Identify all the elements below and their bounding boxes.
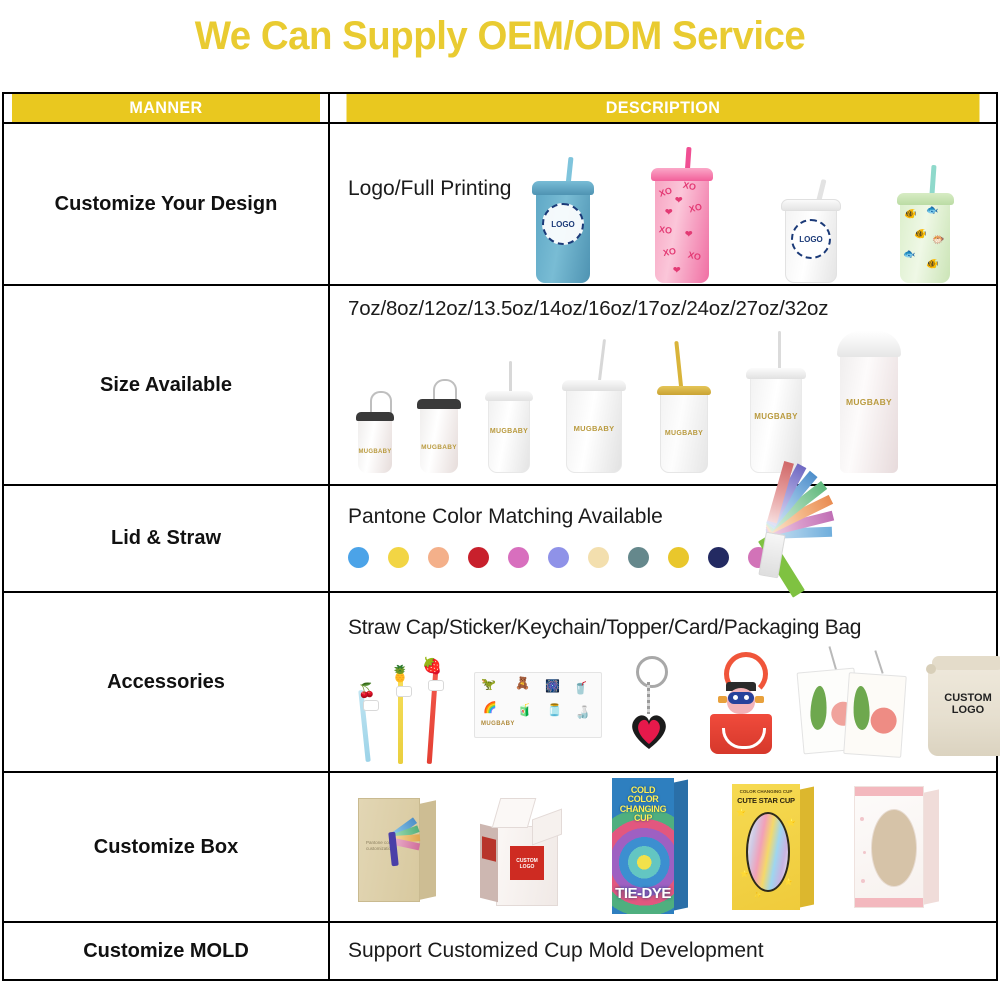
frosted-logo-cup: LOGO: [785, 183, 837, 283]
table-row: Accessories Straw Cap/Sticker/Keychain/T…: [3, 592, 997, 772]
cute-star-cup-box: COLOR CHANGING CUP CUTE STAR CUP ⭐ ⭐ ⭐ ⭐…: [732, 784, 818, 910]
pantone-matching-text: Pantone Color Matching Available: [330, 487, 996, 529]
description-customize-design: Logo/Full Printing LOGO XO: [329, 123, 997, 285]
description-customize-box: Pantone colorcustomization: [329, 772, 997, 922]
page-title: We Can Supply OEM/ODM Service: [20, 14, 980, 59]
description-customize-mold: Support Customized Cup Mold Development: [329, 922, 997, 980]
cup-topper-icon: [702, 652, 778, 760]
table-row: Customize Your Design Logo/Full Printing…: [3, 123, 997, 285]
cute-star-label: CUTE STAR CUP: [735, 796, 797, 805]
manner-lid-straw: Lid & Straw: [3, 485, 329, 592]
color-swatch: [468, 547, 489, 568]
oem-odm-service-page: We Can Supply OEM/ODM Service MANNER DES…: [0, 0, 1000, 1000]
blue-logo-cup: LOGO: [536, 163, 590, 283]
table-row: Size Available 7oz/8oz/12oz/13.5oz/14oz/…: [3, 285, 997, 485]
cup-32oz: MUGBABY: [840, 325, 898, 473]
color-swatch: [388, 547, 409, 568]
logo-full-printing-text: Logo/Full Printing: [330, 177, 511, 201]
color-swatch: [588, 547, 609, 568]
manner-customize-design: Customize Your Design: [3, 123, 329, 285]
color-swatch: [628, 547, 649, 568]
accessories-list-text: Straw Cap/Sticker/Keychain/Topper/Card/P…: [330, 594, 996, 640]
table-row: Customize Box Pantone colorcustomization: [3, 772, 997, 922]
cup-16oz: MUGBABY: [566, 343, 622, 473]
brand-label: MUGBABY: [358, 449, 391, 455]
logo-placeholder: LOGO: [542, 203, 584, 245]
dome-lid-icon: [837, 331, 901, 357]
custom-logo-label: CUSTOM LOGO: [510, 859, 544, 870]
hang-cards-icon: [796, 646, 906, 760]
color-swatch: [668, 547, 689, 568]
cup-12oz: MUGBABY: [488, 361, 530, 473]
service-table: MANNER DESCRIPTION Customize Your Design…: [2, 92, 998, 981]
brand-label: MUGBABY: [490, 428, 528, 435]
logo-placeholder: LOGO: [791, 219, 831, 259]
color-swatch: [348, 547, 369, 568]
pink-window-box: [854, 786, 944, 908]
color-swatch: [708, 547, 729, 568]
custom-logo-label: CUSTOM LOGO: [928, 692, 1000, 716]
tie-dye-box: COLD COLOR CHANGING CUP TIE-DYE: [612, 778, 690, 914]
straw-caps-icon: 🍒 🍍 🍓: [352, 656, 462, 764]
cute-star-sub-label: COLOR CHANGING CUP: [735, 789, 797, 794]
sticker-sheet-icon: 🦖 🧸 🎆 🥤 🌈 🧃 🫙 🍶 MUGBABY: [474, 672, 602, 738]
xo-lips-pattern: XO XO ❤ XO XO ❤ XO XO ❤ ❤: [655, 177, 709, 283]
color-swatch-list: [348, 547, 769, 568]
white-custom-logo-box: CUSTOM LOGO: [480, 786, 586, 906]
size-list-text: 7oz/8oz/12oz/13.5oz/14oz/16oz/17oz/24oz/…: [330, 287, 996, 321]
pantone-fan-deck-icon: [748, 495, 878, 587]
pink-xo-cup: XO XO ❤ XO XO ❤ XO XO ❤ ❤: [655, 151, 709, 283]
description-accessories: Straw Cap/Sticker/Keychain/Topper/Card/P…: [329, 592, 997, 772]
color-swatch: [548, 547, 569, 568]
heart-keychain-icon: [622, 656, 678, 758]
description-lid-straw: Pantone Color Matching Available: [329, 485, 997, 592]
canvas-bag-icon: CUSTOM LOGO: [922, 646, 1000, 758]
table-header-row: MANNER DESCRIPTION: [3, 93, 997, 123]
color-swatch: [428, 547, 449, 568]
description-size-available: 7oz/8oz/12oz/13.5oz/14oz/16oz/17oz/24oz/…: [329, 285, 997, 485]
cup-24oz: MUGBABY: [750, 331, 802, 473]
cup-17oz: MUGBABY: [660, 341, 708, 473]
header-manner: MANNER: [11, 93, 321, 123]
brand-label: MUGBABY: [421, 444, 457, 451]
brand-label: MUGBABY: [665, 430, 703, 437]
table-row: Lid & Straw Pantone Color Matching Avail…: [3, 485, 997, 592]
brand-label: MUGBABY: [754, 412, 797, 421]
tie-dye-heading: COLD COLOR CHANGING CUP: [615, 786, 671, 824]
brand-label: MUGBABY: [846, 397, 892, 407]
brand-label: MUGBABY: [574, 424, 615, 433]
manner-size-available: Size Available: [3, 285, 329, 485]
table-row: Customize MOLD Support Customized Cup Mo…: [3, 922, 997, 980]
kraft-pantone-box: Pantone colorcustomization: [358, 798, 438, 902]
fish-pattern: 🐠 🐟 🐠 🐡 🐟 🐠: [900, 201, 950, 283]
mold-development-text: Support Customized Cup Mold Development: [330, 939, 996, 963]
cup-7oz: MUGBABY: [358, 385, 392, 473]
tie-dye-label: TIE-DYE: [615, 885, 671, 902]
color-swatch: [508, 547, 529, 568]
header-description: DESCRIPTION: [346, 93, 981, 123]
manner-accessories: Accessories: [3, 592, 329, 772]
heart-icon: [628, 712, 670, 750]
mint-fish-cup: 🐠 🐟 🐠 🐡 🐟 🐠: [900, 171, 950, 283]
manner-customize-box: Customize Box: [3, 772, 329, 922]
cup-8oz: MUGBABY: [420, 373, 458, 473]
manner-customize-mold: Customize MOLD: [3, 922, 329, 980]
